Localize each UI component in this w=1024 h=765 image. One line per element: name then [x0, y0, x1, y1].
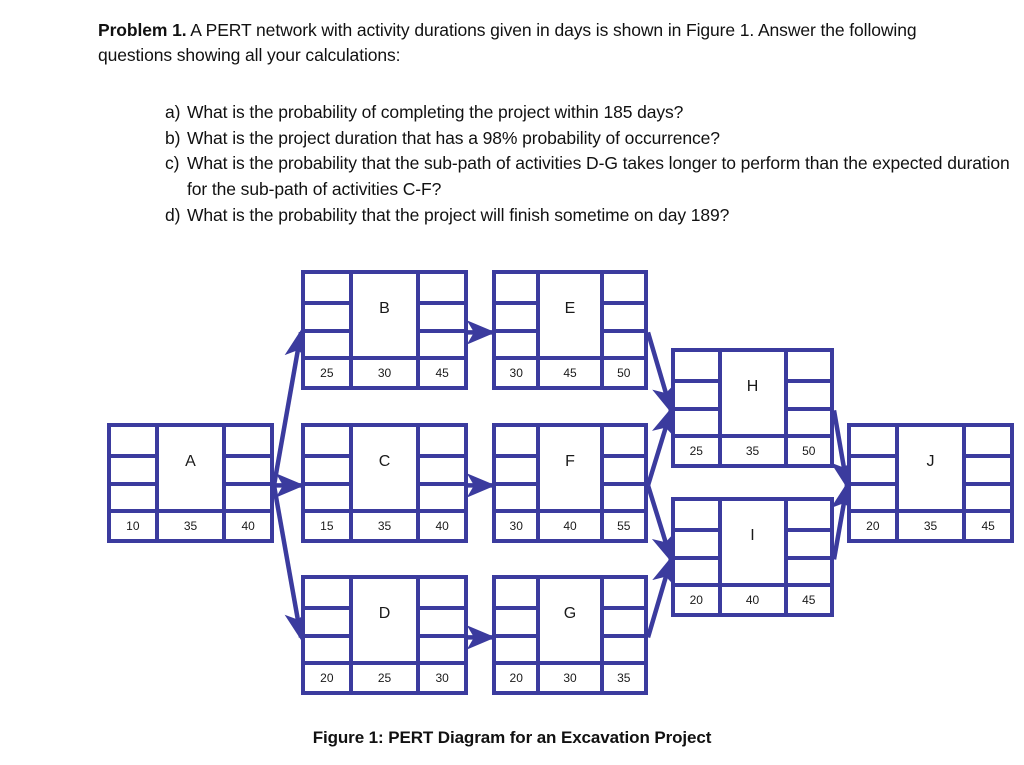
node-slot — [496, 301, 536, 328]
node-slot — [851, 482, 895, 509]
list-marker: a) — [165, 100, 180, 126]
node-center-cell: G — [540, 579, 599, 661]
node-duration-pessimistic: 40 — [416, 513, 464, 539]
node-duration-row: 203035 — [496, 661, 644, 691]
node-slot — [111, 454, 155, 481]
node-slot — [788, 379, 831, 406]
node-slot — [788, 407, 831, 434]
node-duration-row: 204045 — [675, 583, 830, 613]
node-slot — [788, 528, 831, 555]
node-letter: B — [379, 301, 390, 317]
node-slot — [604, 427, 644, 454]
pert-edge-f-i — [648, 485, 671, 559]
node-body: H — [675, 352, 830, 434]
node-slot — [604, 634, 644, 661]
node-slot — [305, 482, 349, 509]
node-duration-row: 304055 — [496, 509, 644, 539]
pert-edge-a-b — [274, 332, 301, 485]
node-slot — [420, 606, 464, 633]
problem-body: A PERT network with activity durations g… — [98, 20, 916, 65]
node-slot — [305, 274, 349, 301]
node-duration-optimistic: 30 — [496, 513, 540, 539]
node-center-cell: J — [899, 427, 963, 509]
node-slot — [788, 501, 831, 528]
node-slot — [675, 407, 718, 434]
node-slot — [305, 454, 349, 481]
node-duration-most-likely: 25 — [353, 665, 417, 691]
list-item: c)What is the probability that the sub-p… — [165, 151, 1015, 202]
pert-node-g: G203035 — [492, 575, 648, 695]
node-slot — [675, 528, 718, 555]
node-duration-row: 203545 — [851, 509, 1010, 539]
node-slot — [496, 579, 536, 606]
node-right-column — [416, 579, 464, 661]
node-duration-optimistic: 25 — [305, 360, 353, 386]
node-left-column — [305, 427, 353, 509]
node-right-column — [600, 427, 644, 509]
node-left-column — [496, 427, 540, 509]
pert-node-b: B253045 — [301, 270, 468, 390]
node-duration-most-likely: 40 — [540, 513, 599, 539]
node-slot — [420, 329, 464, 356]
node-duration-optimistic: 20 — [851, 513, 899, 539]
node-duration-pessimistic: 40 — [222, 513, 270, 539]
node-slot — [305, 606, 349, 633]
node-duration-pessimistic: 50 — [600, 360, 644, 386]
node-left-column — [496, 579, 540, 661]
node-duration-pessimistic: 45 — [416, 360, 464, 386]
node-body: D — [305, 579, 464, 661]
pert-node-e: E304550 — [492, 270, 648, 390]
node-center-cell: B — [353, 274, 417, 356]
node-slot — [788, 556, 831, 583]
node-slot — [420, 427, 464, 454]
node-duration-most-likely: 35 — [159, 513, 223, 539]
node-slot — [420, 482, 464, 509]
node-duration-row: 202530 — [305, 661, 464, 691]
node-duration-most-likely: 30 — [353, 360, 417, 386]
node-center-cell: C — [353, 427, 417, 509]
node-slot — [496, 427, 536, 454]
node-letter: G — [564, 606, 576, 622]
node-right-column — [416, 274, 464, 356]
node-slot — [226, 427, 270, 454]
pert-node-c: C153540 — [301, 423, 468, 543]
node-duration-pessimistic: 45 — [962, 513, 1010, 539]
node-slot — [305, 634, 349, 661]
node-duration-row: 253045 — [305, 356, 464, 386]
node-duration-row: 253550 — [675, 434, 830, 464]
problem-label: Problem 1. — [98, 20, 186, 40]
node-slot — [420, 579, 464, 606]
node-slot — [496, 329, 536, 356]
pert-edge-f-h — [648, 410, 671, 485]
node-slot — [305, 301, 349, 328]
node-slot — [226, 482, 270, 509]
node-slot — [305, 329, 349, 356]
node-duration-pessimistic: 55 — [600, 513, 644, 539]
node-right-column — [600, 579, 644, 661]
node-slot — [226, 454, 270, 481]
pert-node-d: D202530 — [301, 575, 468, 695]
node-letter: A — [185, 454, 196, 470]
pert-edge-a-d — [274, 485, 301, 637]
node-slot — [851, 454, 895, 481]
node-body: I — [675, 501, 830, 583]
node-body: F — [496, 427, 644, 509]
node-slot — [851, 427, 895, 454]
node-slot — [496, 274, 536, 301]
question-text: What is the project duration that has a … — [187, 128, 720, 148]
node-left-column — [496, 274, 540, 356]
node-letter: I — [750, 528, 754, 544]
node-slot — [675, 556, 718, 583]
node-body: E — [496, 274, 644, 356]
node-slot — [675, 379, 718, 406]
node-center-cell: D — [353, 579, 417, 661]
node-left-column — [305, 274, 353, 356]
pert-edge-e-h — [648, 332, 671, 410]
problem-statement: Problem 1. A PERT network with activity … — [98, 18, 978, 68]
node-slot — [966, 427, 1010, 454]
node-slot — [420, 454, 464, 481]
node-slot — [420, 634, 464, 661]
node-duration-row: 153540 — [305, 509, 464, 539]
node-right-column — [600, 274, 644, 356]
pert-node-a: A103540 — [107, 423, 274, 543]
node-right-column — [416, 427, 464, 509]
node-right-column — [222, 427, 270, 509]
question-text: What is the probability of completing th… — [187, 102, 683, 122]
node-right-column — [962, 427, 1010, 509]
pert-node-j: J203545 — [847, 423, 1014, 543]
pert-edge-h-j — [834, 410, 847, 485]
node-body: J — [851, 427, 1010, 509]
node-letter: C — [379, 454, 391, 470]
list-item: b)What is the project duration that has … — [165, 126, 1015, 152]
pert-node-i: I204045 — [671, 497, 834, 617]
node-slot — [496, 606, 536, 633]
node-slot — [604, 482, 644, 509]
node-duration-most-likely: 35 — [899, 513, 963, 539]
node-duration-optimistic: 10 — [111, 513, 159, 539]
node-duration-optimistic: 15 — [305, 513, 353, 539]
node-right-column — [784, 352, 831, 434]
node-body: A — [111, 427, 270, 509]
pert-edge-i-j — [834, 485, 847, 559]
node-duration-optimistic: 20 — [675, 587, 722, 613]
node-slot — [420, 301, 464, 328]
node-left-column — [111, 427, 159, 509]
node-slot — [420, 274, 464, 301]
node-duration-optimistic: 30 — [496, 360, 540, 386]
node-left-column — [675, 501, 722, 583]
pert-node-h: H253550 — [671, 348, 834, 468]
node-body: C — [305, 427, 464, 509]
list-marker: b) — [165, 126, 180, 152]
node-slot — [496, 454, 536, 481]
node-center-cell: A — [159, 427, 223, 509]
node-slot — [111, 482, 155, 509]
node-right-column — [784, 501, 831, 583]
node-slot — [966, 482, 1010, 509]
node-slot — [604, 579, 644, 606]
problem-text-block: Problem 1. A PERT network with activity … — [98, 18, 978, 68]
node-duration-most-likely: 35 — [722, 438, 784, 464]
node-letter: J — [927, 454, 935, 470]
node-duration-pessimistic: 50 — [784, 438, 831, 464]
node-duration-optimistic: 20 — [305, 665, 353, 691]
question-text: What is the probability that the project… — [187, 205, 729, 225]
node-body: B — [305, 274, 464, 356]
list-marker: c) — [165, 151, 179, 177]
node-slot — [675, 501, 718, 528]
pert-edge-g-i — [648, 559, 671, 637]
node-left-column — [851, 427, 899, 509]
node-slot — [305, 579, 349, 606]
list-marker: d) — [165, 203, 180, 229]
node-left-column — [305, 579, 353, 661]
pert-node-f: F304055 — [492, 423, 648, 543]
node-slot — [305, 427, 349, 454]
node-duration-pessimistic: 45 — [784, 587, 831, 613]
node-duration-pessimistic: 30 — [416, 665, 464, 691]
node-letter: F — [565, 454, 575, 470]
node-duration-most-likely: 40 — [722, 587, 784, 613]
node-center-cell: E — [540, 274, 599, 356]
node-slot — [675, 352, 718, 379]
node-letter: E — [565, 301, 576, 317]
node-slot — [604, 606, 644, 633]
node-center-cell: I — [722, 501, 784, 583]
node-duration-optimistic: 25 — [675, 438, 722, 464]
node-left-column — [675, 352, 722, 434]
node-slot — [604, 274, 644, 301]
node-slot — [111, 427, 155, 454]
node-slot — [604, 454, 644, 481]
node-body: G — [496, 579, 644, 661]
node-letter: D — [379, 606, 391, 622]
node-duration-optimistic: 20 — [496, 665, 540, 691]
question-text: What is the probability that the sub-pat… — [187, 153, 1010, 199]
list-item: d)What is the probability that the proje… — [165, 203, 1015, 229]
node-duration-row: 103540 — [111, 509, 270, 539]
node-duration-most-likely: 30 — [540, 665, 599, 691]
node-slot — [496, 482, 536, 509]
node-slot — [604, 329, 644, 356]
node-slot — [788, 352, 831, 379]
node-slot — [604, 301, 644, 328]
node-duration-most-likely: 35 — [353, 513, 417, 539]
node-duration-pessimistic: 35 — [600, 665, 644, 691]
node-duration-most-likely: 45 — [540, 360, 599, 386]
node-letter: H — [747, 379, 759, 395]
node-slot — [496, 634, 536, 661]
node-center-cell: H — [722, 352, 784, 434]
node-center-cell: F — [540, 427, 599, 509]
node-slot — [966, 454, 1010, 481]
list-item: a)What is the probability of completing … — [165, 100, 1015, 126]
figure-caption: Figure 1: PERT Diagram for an Excavation… — [0, 728, 1024, 748]
node-duration-row: 304550 — [496, 356, 644, 386]
question-list: a)What is the probability of completing … — [165, 100, 1015, 229]
